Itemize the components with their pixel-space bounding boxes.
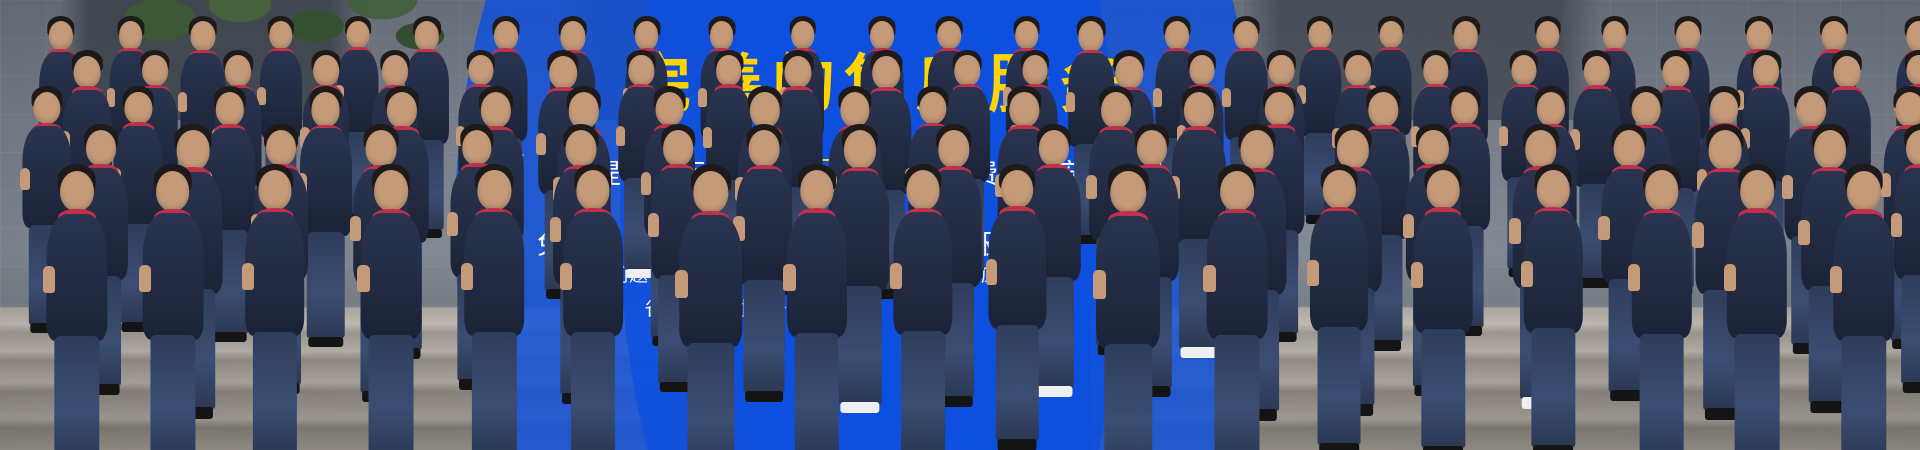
staff-member: [1208, 166, 1267, 450]
service-banner: 完善的售后服务 免费提供非标产品设计: [0, 0, 1920, 450]
staff-member: [466, 166, 523, 450]
staff-member: [47, 166, 106, 450]
staff-member: [788, 166, 846, 450]
staff-member: [362, 166, 420, 450]
staff-member: [894, 166, 951, 450]
staff-member: [680, 166, 741, 450]
staff-member: [990, 166, 1045, 450]
staff-member: [143, 166, 202, 450]
staff-member: [1895, 126, 1920, 424]
staff-member: [1525, 166, 1581, 450]
staff-member: [1834, 166, 1893, 450]
staff-member: [1633, 166, 1691, 450]
staff-crowd: [0, 0, 1920, 450]
staff-member: [1311, 166, 1367, 450]
staff-member: [564, 166, 621, 450]
staff-member: [1415, 166, 1471, 450]
staff-member: [1728, 166, 1786, 450]
staff-member: [1098, 166, 1160, 450]
staff-member: [246, 166, 303, 450]
